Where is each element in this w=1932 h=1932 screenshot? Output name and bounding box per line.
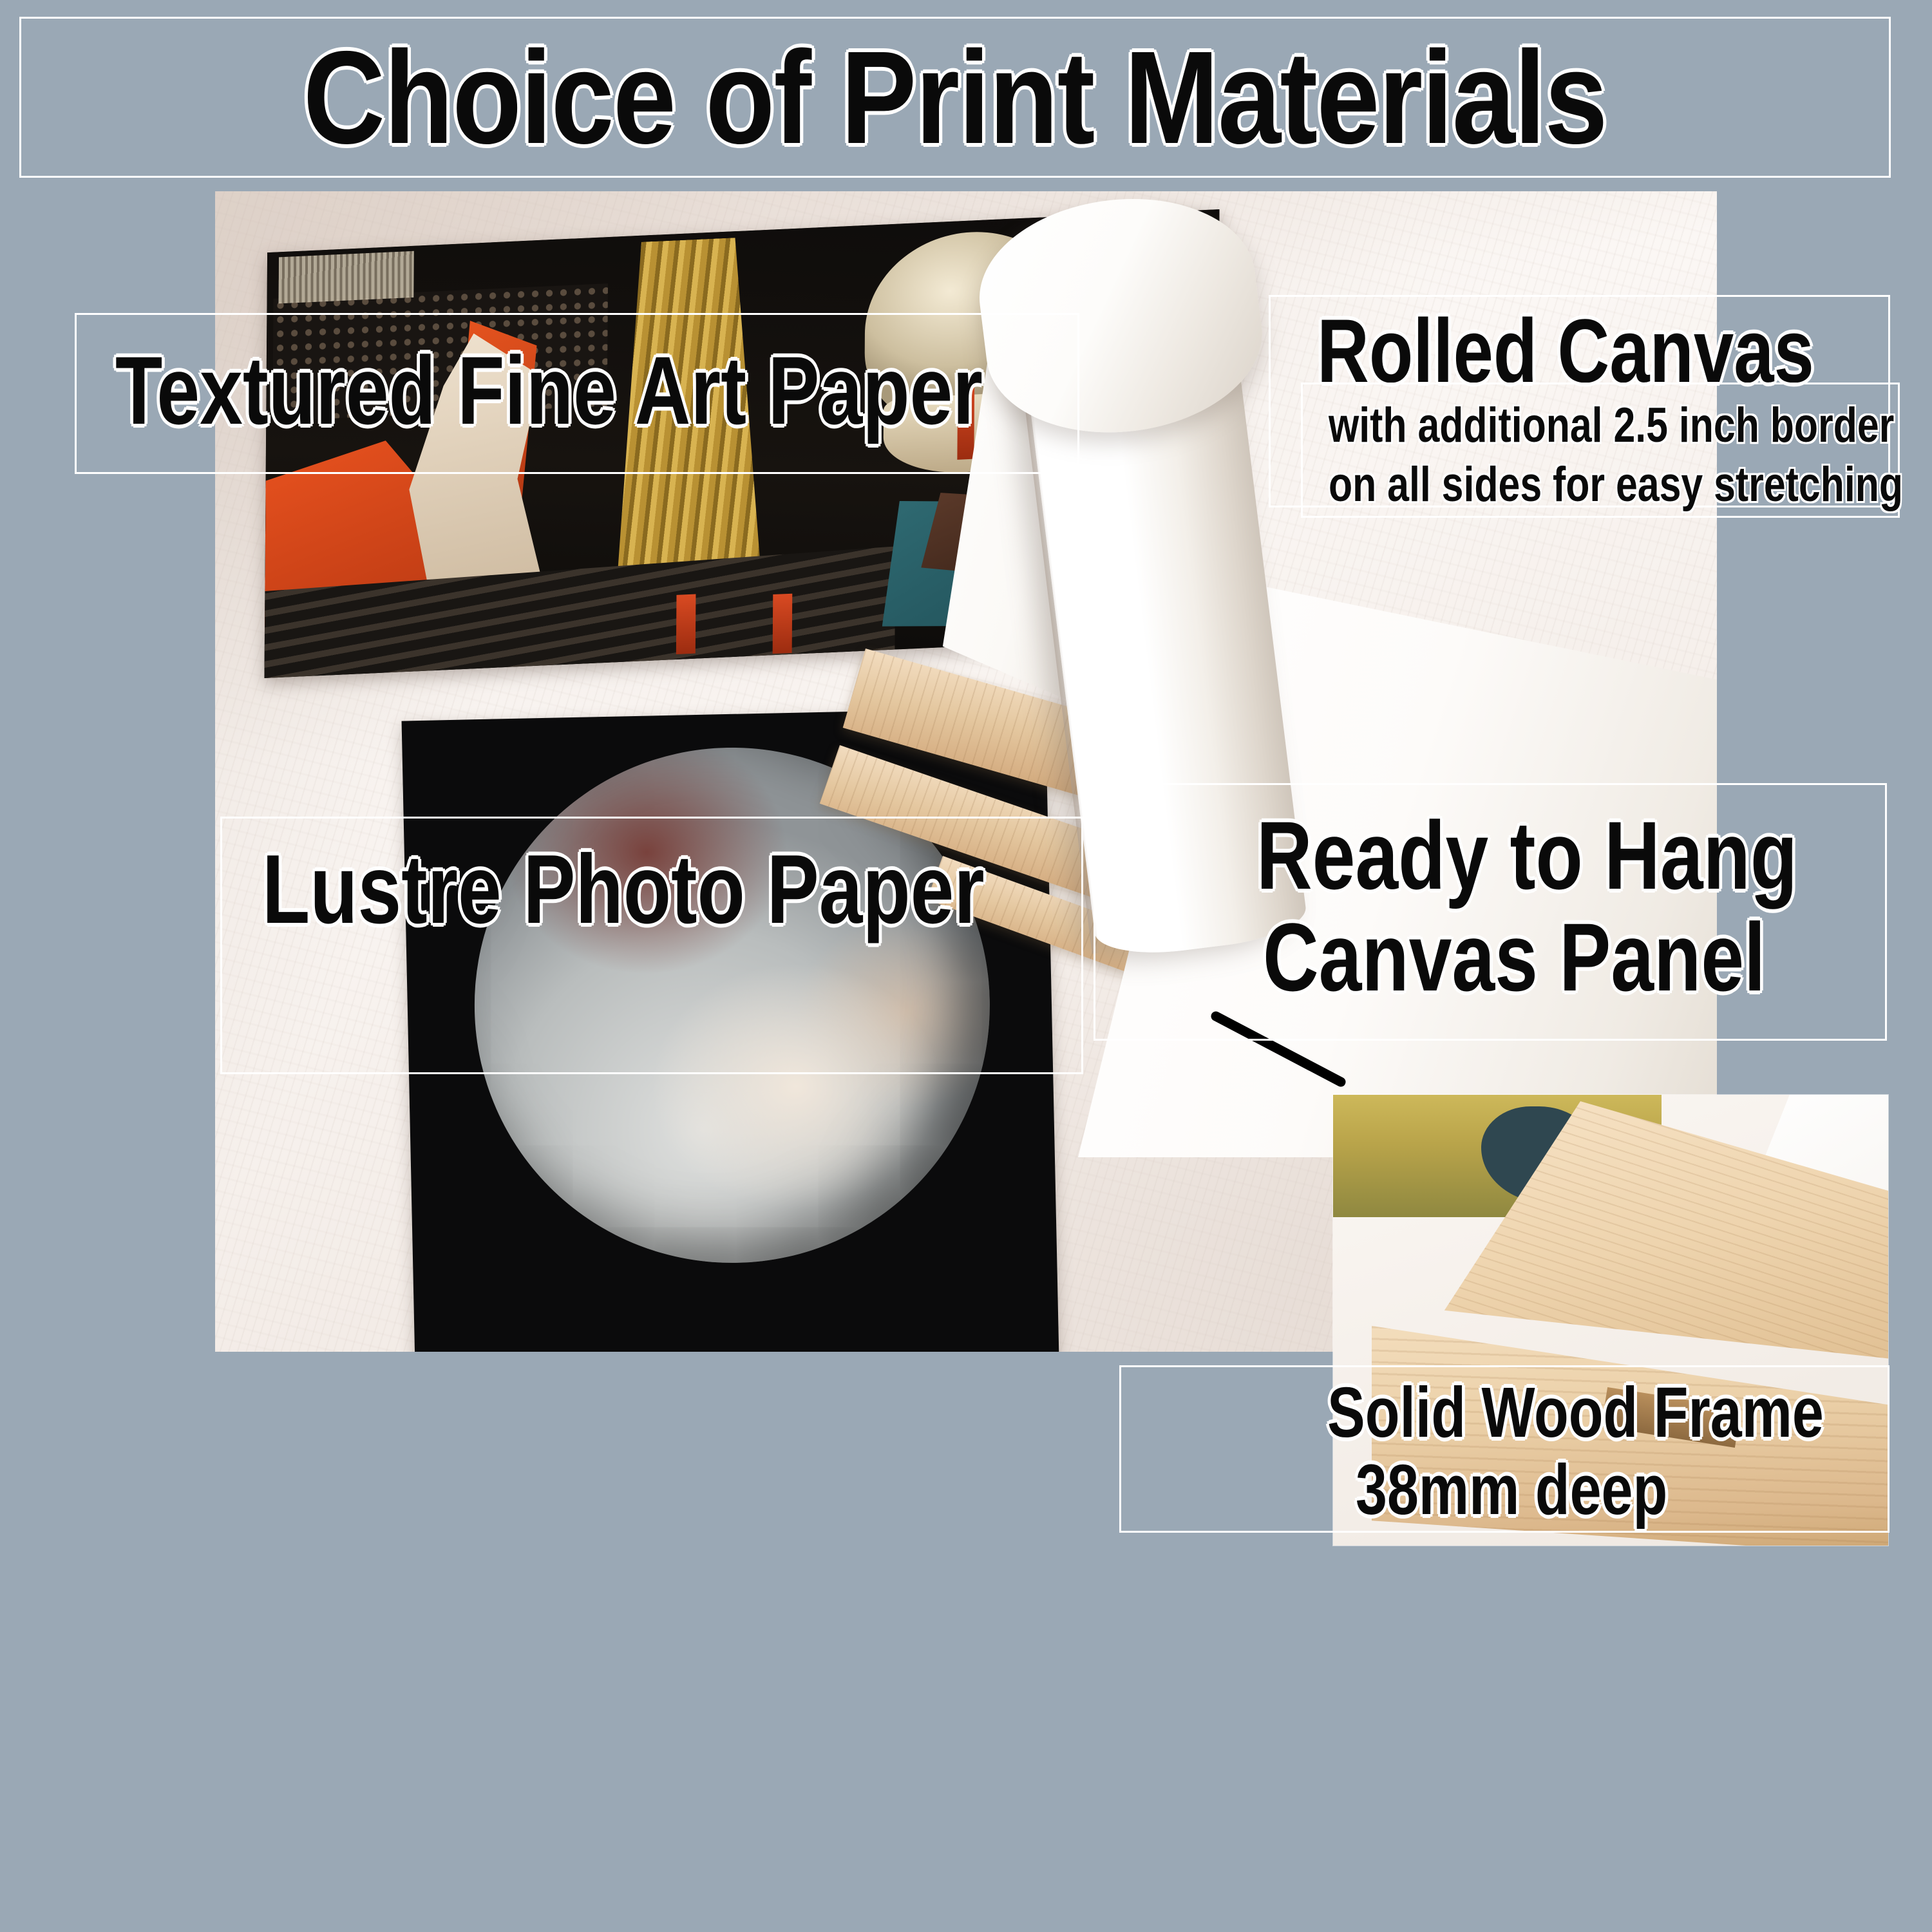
label-wood-frame-line1: Solid Wood Frame — [1327, 1378, 1824, 1448]
page-title-box: Choice of Print Materials — [19, 17, 1891, 178]
label-lustre-text: Lustre Photo Paper — [262, 840, 985, 938]
label-solid-wood-frame: Solid Wood Frame 38mm deep — [1119, 1365, 1889, 1533]
label-textured-fine-art-paper: Textured Fine Art Paper — [75, 313, 1079, 474]
label-rolled-canvas-sub-line1: with additional 2.5 inch border — [1329, 401, 1894, 450]
label-fine-art-text: Textured Fine Art Paper — [115, 342, 983, 439]
label-ready-to-hang-line2: Canvas Panel — [1263, 909, 1765, 1005]
page-title: Choice of Print Materials — [303, 32, 1607, 164]
label-rolled-canvas-sub-line2: on all sides for easy stretching — [1329, 460, 1903, 509]
label-rolled-canvas-subtext: with additional 2.5 inch border on all s… — [1301, 383, 1900, 518]
poster-canvas: Choice of Print Materials — [0, 0, 1932, 1932]
label-lustre-photo-paper: Lustre Photo Paper — [220, 817, 1083, 1074]
label-ready-to-hang-line1: Ready to Hang — [1256, 807, 1797, 904]
label-ready-to-hang-canvas-panel: Ready to Hang Canvas Panel — [1094, 783, 1887, 1041]
label-wood-frame-line2: 38mm deep — [1356, 1455, 1667, 1526]
